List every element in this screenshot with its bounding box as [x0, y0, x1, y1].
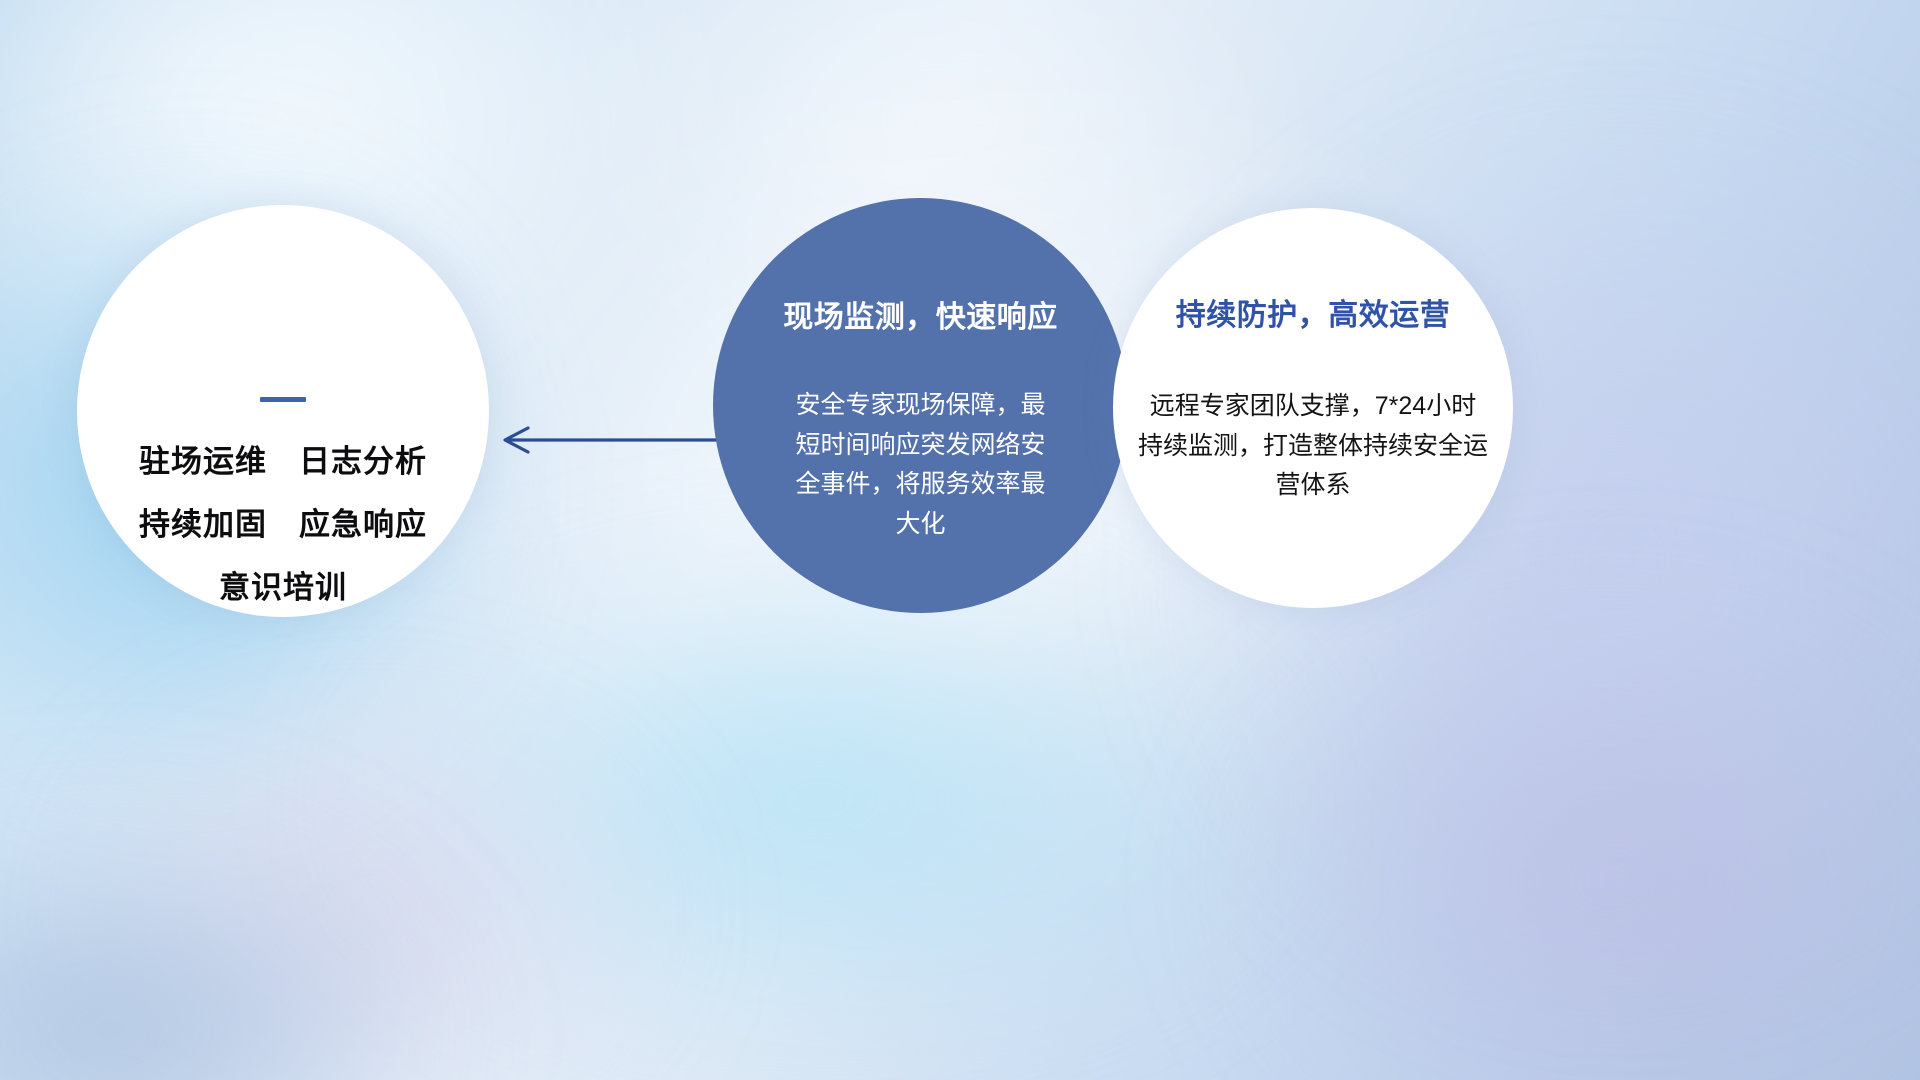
capability-line-1: 驻场运维 日志分析	[139, 446, 427, 477]
capability-line-2: 持续加固 应急响应	[139, 509, 427, 540]
divider-dash	[260, 397, 306, 402]
capability-line-3: 意识培训	[139, 572, 427, 603]
left-capability-circle: 驻场运维 日志分析 持续加固 应急响应 意识培训	[77, 205, 489, 617]
right-operations-circle: 持续防护，高效运营 远程专家团队支撑，7*24小时持续监测，打造整体持续安全运营…	[1113, 208, 1513, 608]
capability-list: 驻场运维 日志分析 持续加固 应急响应 意识培训	[139, 446, 427, 603]
middle-circle-title: 现场监测，快速响应	[783, 303, 1058, 333]
right-circle-title: 持续防护，高效运营	[1176, 301, 1451, 331]
middle-onsite-circle: 现场监测，快速响应 安全专家现场保障，最短时间响应突发网络安全事件，将服务效率最…	[713, 198, 1128, 613]
right-circle-body: 远程专家团队支撑，7*24小时持续监测，打造整体持续安全运营体系	[1138, 387, 1488, 506]
middle-circle-body: 安全专家现场保障，最短时间响应突发网络安全事件，将服务效率最大化	[785, 386, 1057, 544]
